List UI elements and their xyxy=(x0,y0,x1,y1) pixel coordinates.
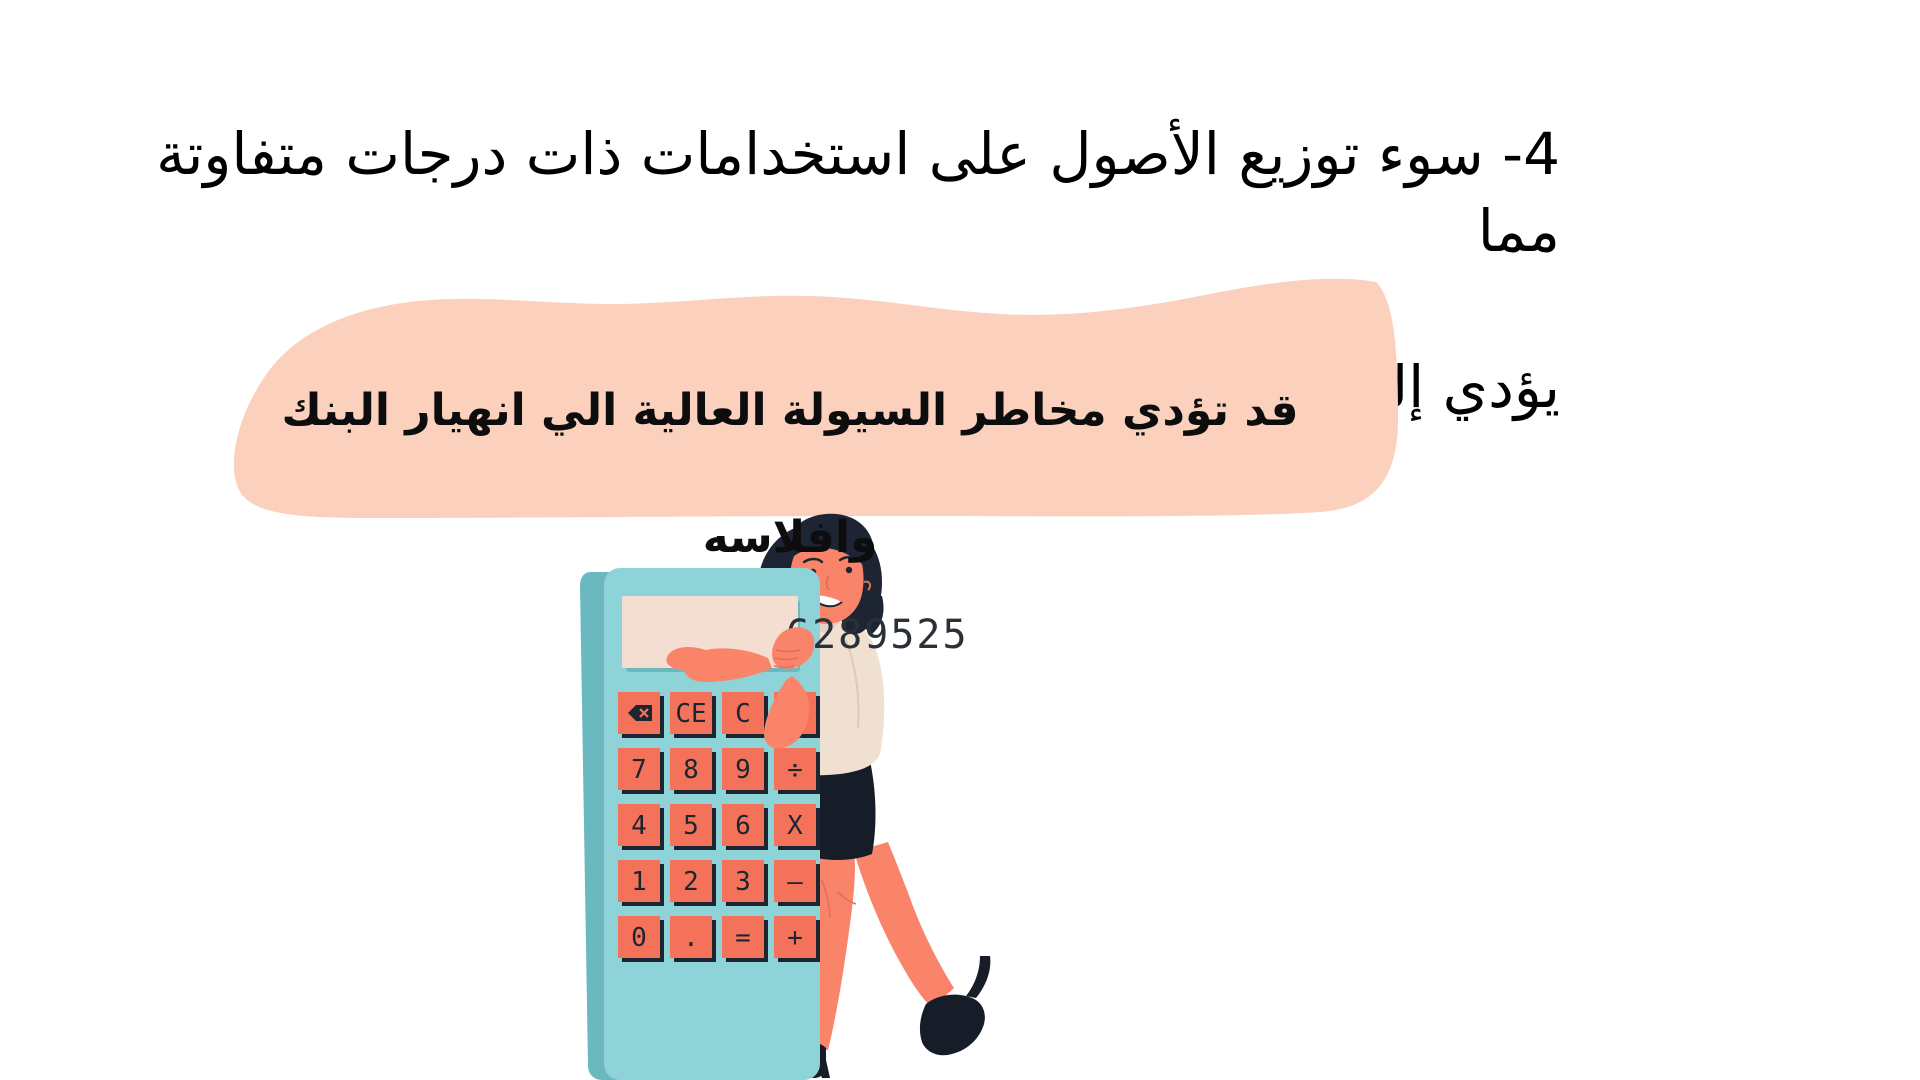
calculator-key[interactable]: 5 xyxy=(670,804,716,850)
key-label: 9 xyxy=(735,755,751,785)
key-label: 2 xyxy=(683,867,699,897)
key-label: 3 xyxy=(735,867,751,897)
calculator-key[interactable]: 6 xyxy=(722,804,768,850)
calculator-key[interactable]: 0 xyxy=(618,916,664,962)
calculator-key[interactable]: 9 xyxy=(722,748,768,794)
calculator-key[interactable]: + xyxy=(774,916,820,962)
callout-text: قد تؤدي مخاطر السيولة العالية الي انهيار… xyxy=(240,316,1340,569)
calculator-key[interactable]: X xyxy=(774,804,820,850)
callout-text-line-1: قد تؤدي مخاطر السيولة العالية الي انهيار… xyxy=(281,385,1298,436)
calculator-display-value: 6289525 xyxy=(786,612,969,658)
key-label: = xyxy=(735,923,751,953)
key-label: 7 xyxy=(631,755,647,785)
key-label: ÷ xyxy=(787,755,803,785)
calculator-key[interactable] xyxy=(618,692,664,738)
key-label: 6 xyxy=(735,811,751,841)
calculator-key[interactable]: 7 xyxy=(618,748,664,794)
key-label: X xyxy=(787,811,803,841)
key-label: 5 xyxy=(683,811,699,841)
calculator-key[interactable]: ÷ xyxy=(774,748,820,794)
calculator-key[interactable]: 8 xyxy=(670,748,716,794)
key-label: C xyxy=(735,699,751,729)
calculator-key[interactable]: 3 xyxy=(722,860,768,906)
calculator-key[interactable]: 4 xyxy=(618,804,664,850)
key-label: – xyxy=(787,867,803,897)
calculator-key[interactable]: 2 xyxy=(670,860,716,906)
callout-blob: قد تؤدي مخاطر السيولة العالية الي انهيار… xyxy=(180,268,1400,518)
key-label: 1 xyxy=(631,867,647,897)
key-label: 4 xyxy=(631,811,647,841)
calculator-key[interactable]: = xyxy=(722,916,768,962)
key-label: CE xyxy=(675,699,706,729)
calculator-key[interactable]: C xyxy=(722,692,768,738)
key-label: 8 xyxy=(683,755,699,785)
key-label: 0 xyxy=(631,923,647,953)
key-label: . xyxy=(683,923,699,953)
calculator-key[interactable]: . xyxy=(670,916,716,962)
callout-text-line-2: وافلاسه xyxy=(703,512,878,563)
calculator-key[interactable]: 1 xyxy=(618,860,664,906)
slide-canvas: 4- سوء توزيع الأصول على استخدامات ذات در… xyxy=(0,0,1920,1080)
key-label: + xyxy=(787,923,803,953)
calculator-key[interactable]: – xyxy=(774,860,820,906)
page-title-line-1: 4- سوء توزيع الأصول على استخدامات ذات در… xyxy=(80,116,1560,271)
calculator-key[interactable]: CE xyxy=(670,692,716,738)
illustration-woman-with-calculator: 6289525 CE xyxy=(560,500,1040,1080)
